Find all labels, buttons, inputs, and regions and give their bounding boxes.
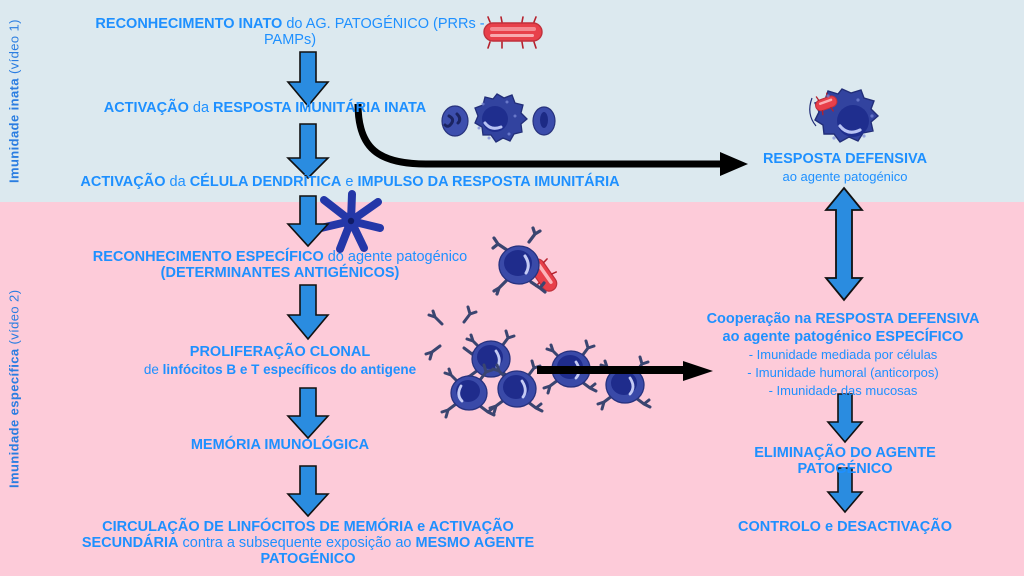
double-vertical-arrow: [820, 188, 868, 300]
proliferation-title: PROLIFERAÇÃO CLONAL: [190, 344, 370, 360]
node-recognition-innate: RECONHECIMENTO INATO do AG. PATOGÉNICO (…: [50, 16, 530, 48]
recognition-specific-rest: do agente patogénico: [324, 249, 468, 265]
recognition-specific-bold: RECONHECIMENTO ESPECÍFICO: [93, 249, 324, 265]
node-activation-dendritic: ACTIVAÇÃO da CÉLULA DENDRÍTICA e IMPULSO…: [40, 174, 660, 190]
recognition-innate-rest: do AG. PATOGÉNICO (PRRs -: [282, 16, 484, 32]
activation-dendritic-p1: ACTIVAÇÃO: [80, 174, 165, 190]
diagram-canvas: Imunidade inata (vídeo 1) Imunidade espe…: [0, 0, 1024, 576]
node-clonal-proliferation: PROLIFERAÇÃO CLONAL de linfócitos B e T …: [80, 343, 480, 379]
cooperation-line1: Cooperação na RESPOSTA DEFENSIVA: [707, 311, 980, 327]
down-arrow-dendritic-to-recognition: [285, 196, 331, 248]
cooperation-line2: ao agente patogénico ESPECÍFICO: [723, 329, 964, 345]
cooperation-bullet-3: - Imunidade das mucosas: [769, 383, 918, 398]
node-recognition-specific: RECONHECIMENTO ESPECÍFICO do agente pato…: [60, 249, 500, 281]
macrophage-icon: [798, 88, 888, 150]
activation-dendritic-p5: IMPULSO DA RESPOSTA IMUNITÁRIA: [358, 174, 620, 190]
straight-right-arrow: [537, 360, 713, 382]
elimination-line2: PATOGÉNICO: [797, 461, 892, 477]
elimination-line1: ELIMINAÇÃO DO AGENTE: [754, 445, 936, 461]
node-pathogen-elimination: ELIMINAÇÃO DO AGENTE PATOGÉNICO: [715, 445, 975, 477]
circulation-p1: CIRCULAÇÃO DE LINFÓCITOS DE MEMÓRIA e AC…: [102, 519, 514, 535]
memory-title: MEMÓRIA IMUNOLÓGICA: [191, 437, 369, 453]
cooperation-bullet-2: - Imunidade humoral (anticorpos): [747, 365, 938, 380]
lymphocyte-antigen-icon: [495, 232, 577, 306]
rail-specific-thin: (vídeo 2): [7, 290, 22, 345]
node-control-deactivation: CONTROLO e DESACTIVAÇÃO: [705, 519, 985, 535]
rail-specific-bold: Imunidade específica: [7, 349, 22, 489]
recognition-innate-bold: RECONHECIMENTO INATO: [95, 16, 282, 32]
circulation-p4: MESMO AGENTE: [415, 535, 534, 551]
activation-dendritic-p3: CÉLULA DENDRÍTICA: [190, 174, 342, 190]
defensive-response-title: RESPOSTA DEFENSIVA: [763, 151, 927, 167]
recognition-specific-line2: (DETERMINANTES ANTIGÉNICOS): [161, 265, 400, 281]
rail-label-specific: Imunidade específica (vídeo 2): [0, 202, 28, 576]
down-arrow-memory-to-circulation: [285, 466, 331, 518]
node-memory-circulation: CIRCULAÇÃO DE LINFÓCITOS DE MEMÓRIA e AC…: [48, 519, 568, 568]
recognition-innate-line2: PAMPs): [264, 32, 316, 48]
rail-label-innate: Imunidade inata (vídeo 1): [0, 0, 28, 202]
activation-dendritic-p4: e: [341, 174, 357, 190]
cooperation-bullet-1: - Imunidade mediada por células: [749, 347, 938, 362]
node-activation-innate-response: ACTIVAÇÃO da RESPOSTA IMUNITÁRIA INATA: [50, 100, 480, 116]
down-arrow-cooperation-to-elimination: [825, 394, 865, 444]
control-title: CONTROLO e DESACTIVAÇÃO: [738, 519, 952, 535]
node-immunological-memory: MEMÓRIA IMUNOLÓGICA: [130, 437, 430, 453]
down-arrow-recognition-to-proliferation: [285, 285, 331, 341]
rail-innate-bold: Imunidade inata: [7, 78, 22, 183]
proliferation-sub-prefix: de: [144, 362, 163, 377]
activation-response-mid: da: [189, 100, 213, 116]
circulation-p3: contra a subsequente exposição ao: [178, 535, 415, 551]
circulation-p5: PATOGÉNICO: [260, 551, 355, 567]
defensive-response-subtitle: ao agente patogénico: [782, 169, 907, 184]
circulation-p2: SECUNDÁRIA: [82, 535, 179, 551]
down-arrow-proliferation-to-memory: [285, 388, 331, 440]
activation-dendritic-p2: da: [166, 174, 190, 190]
rail-innate-thin: (vídeo 1): [7, 19, 22, 74]
activation-response-suffix: RESPOSTA IMUNITÁRIA INATA: [213, 100, 426, 116]
node-defensive-response: RESPOSTA DEFENSIVA ao agente patogénico: [715, 150, 975, 186]
down-arrow-activation-to-dendritic: [285, 124, 331, 180]
node-cooperation-defensive: Cooperação na RESPOSTA DEFENSIVA ao agen…: [693, 310, 993, 400]
activation-response-prefix: ACTIVAÇÃO: [104, 100, 189, 116]
proliferation-sub-bold: linfócitos B e T específicos do antigene: [163, 362, 417, 377]
